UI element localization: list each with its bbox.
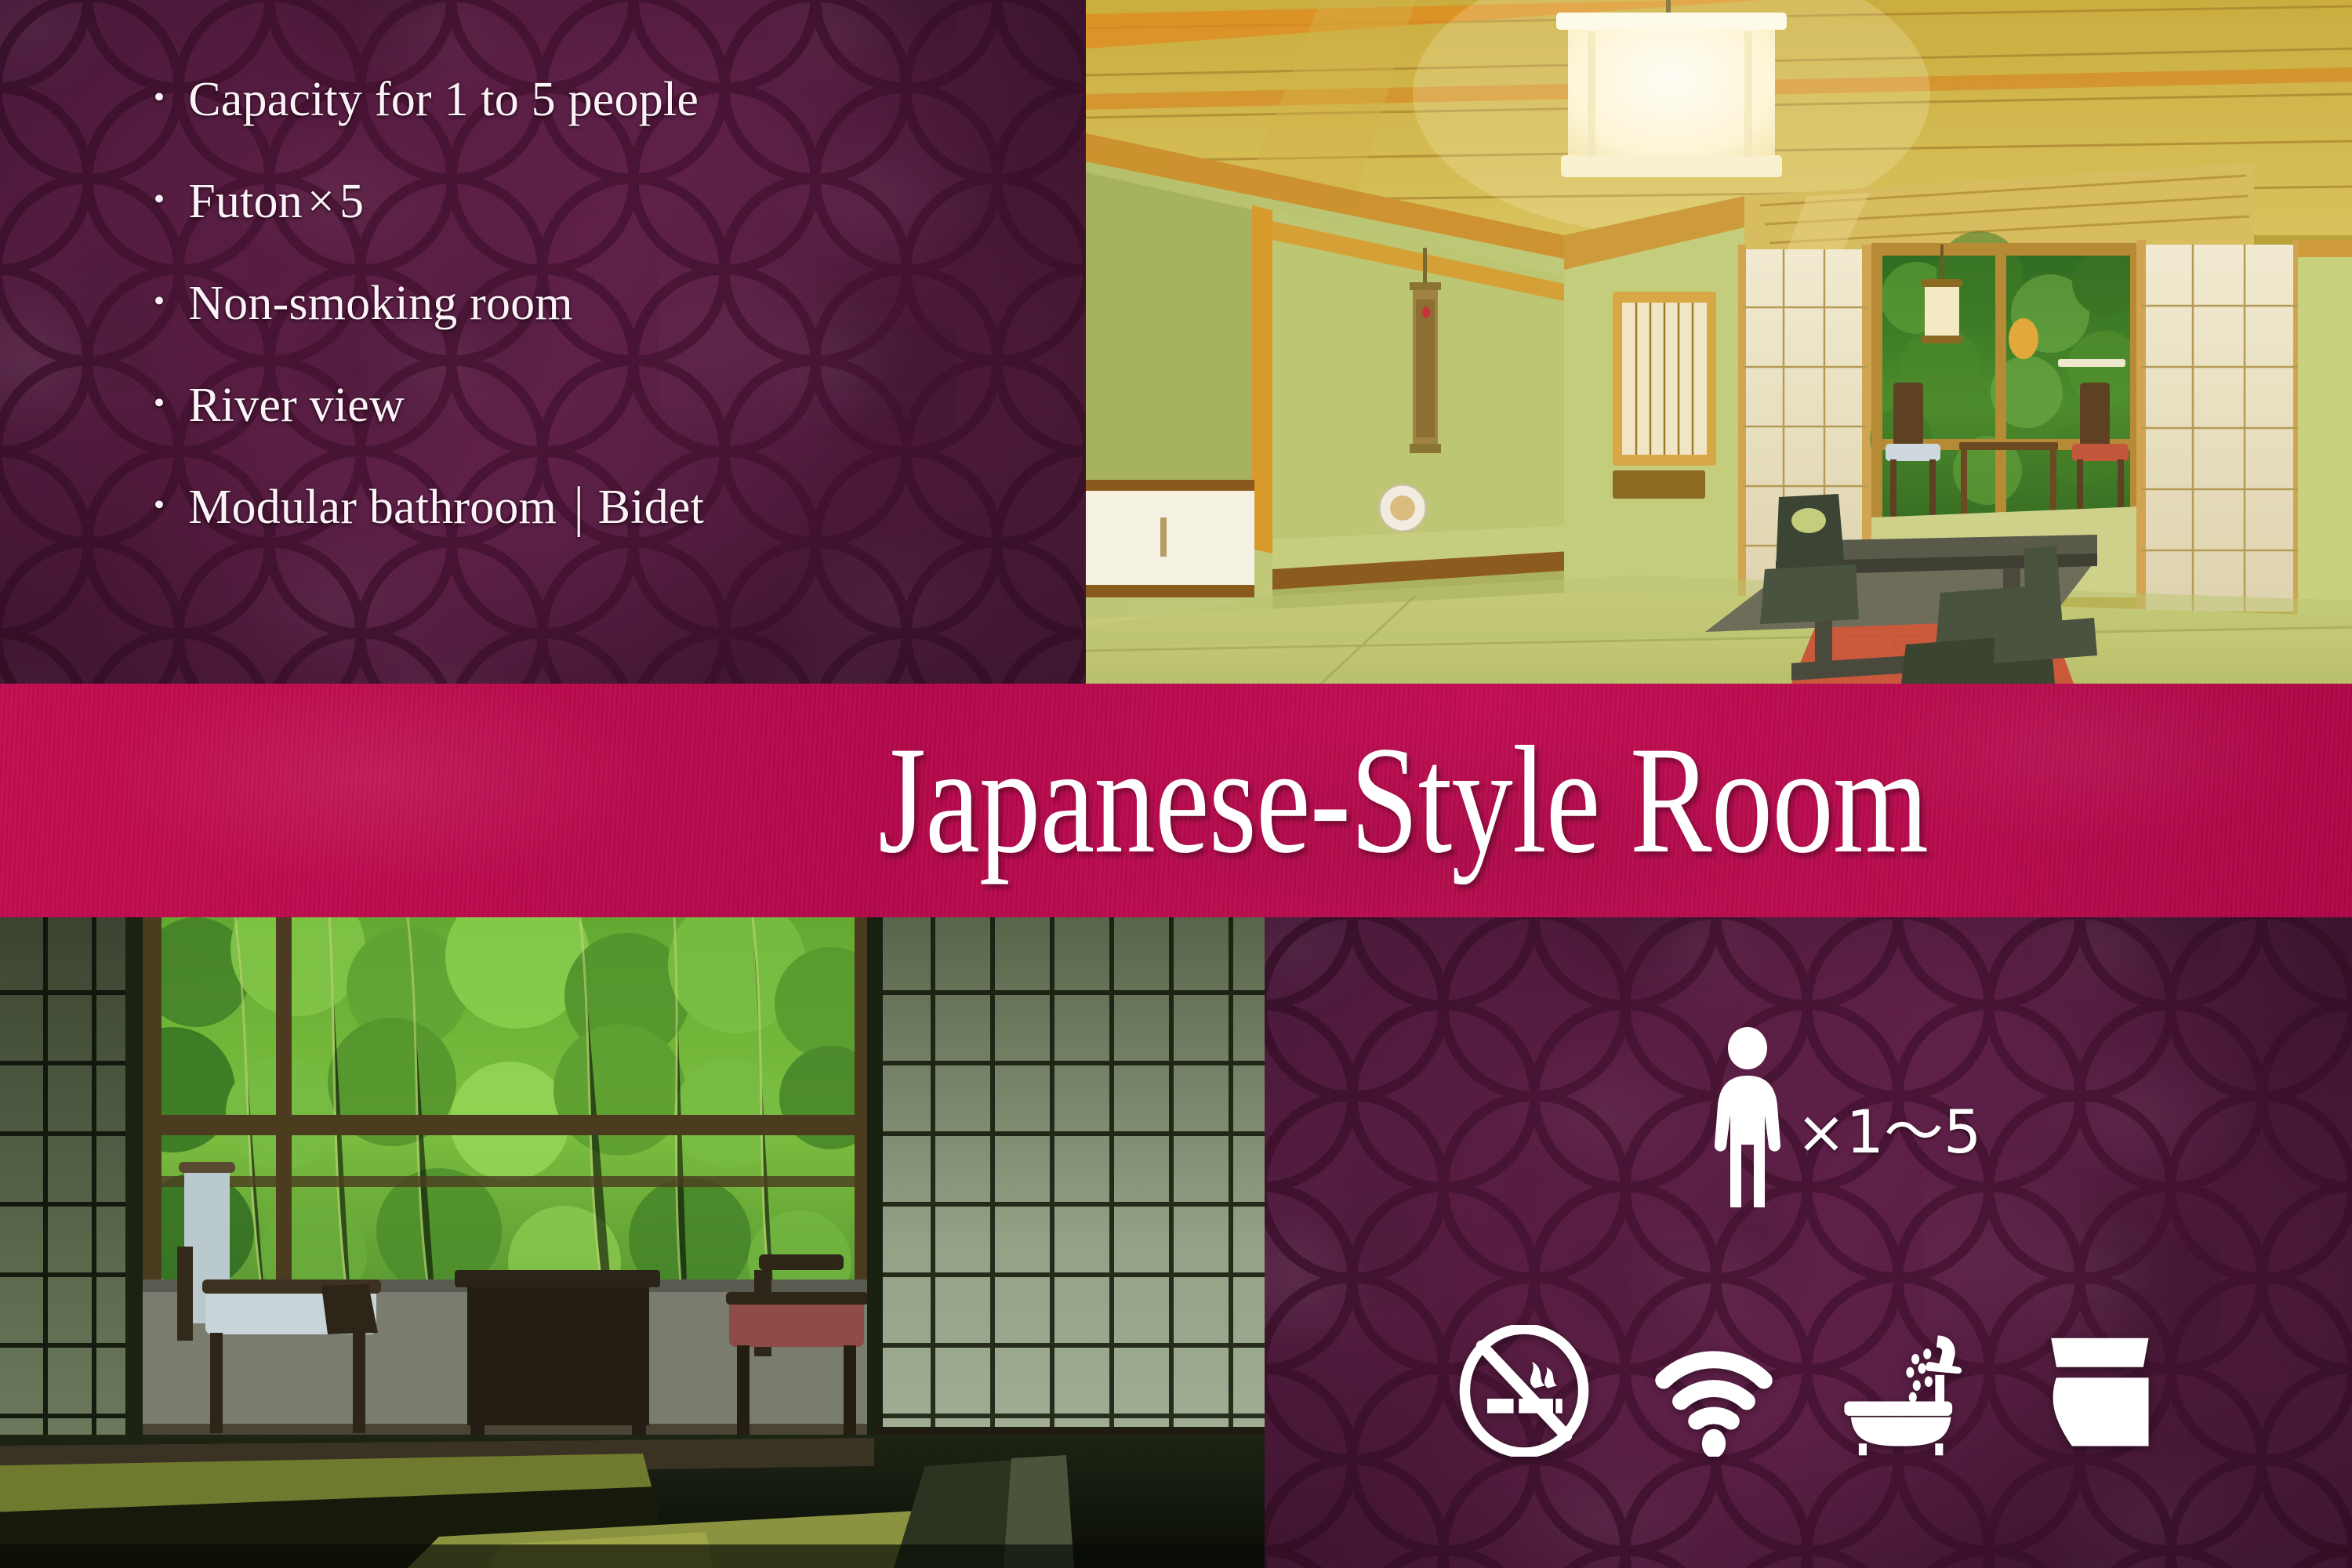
page-title: Japanese-Style Room: [878, 724, 1928, 877]
title-banner: Japanese-Style Room: [0, 684, 2352, 917]
wifi-icon: [1648, 1325, 1780, 1457]
feature-label-secondary: Bidet: [598, 481, 704, 534]
capacity-label: ×1〜5: [1796, 1102, 1981, 1162]
bullet-icon: ・: [141, 183, 177, 219]
feature-label: Capacity for 1 to 5 people: [188, 73, 699, 126]
feature-item-capacity: ・Capacity for 1 to 5 people: [141, 75, 1074, 124]
person-icon: [1711, 1027, 1784, 1207]
bullet-icon: ・: [141, 488, 177, 524]
panel-grain: [1265, 917, 2352, 1568]
amenities-panel: ×1〜5: [1265, 917, 2352, 1568]
shippou-pattern: [1265, 917, 2352, 1568]
bullet-icon: ・: [141, 285, 177, 321]
separator-icon: |: [574, 479, 584, 535]
panel-vignette: [1265, 917, 2352, 1568]
bathtub-shower-icon: [1838, 1325, 1969, 1457]
feature-item-river-view: ・River view: [141, 381, 1074, 430]
capacity-row: ×1〜5: [1711, 1027, 1981, 1207]
feature-value: 5: [339, 175, 364, 228]
multiply-icon: ×: [307, 175, 335, 228]
feature-item-non-smoking: ・Non-smoking room: [141, 279, 1074, 328]
feature-label: Non-smoking room: [188, 277, 573, 330]
bullet-icon: ・: [141, 81, 177, 117]
japanese-tatami-room-photo: [1086, 0, 2352, 684]
panel-texture: [1265, 917, 2352, 1568]
feature-item-bathroom: ・Modular bathroom|Bidet: [141, 483, 1074, 532]
feature-label: Modular bathroom: [188, 481, 557, 534]
river-view-window-photo: [0, 917, 1265, 1568]
no-smoking-icon: [1458, 1325, 1590, 1457]
features-panel: ・Capacity for 1 to 5 people ・Futon×5 ・No…: [0, 0, 1086, 684]
feature-list: ・Capacity for 1 to 5 people ・Futon×5 ・No…: [141, 75, 1074, 585]
feature-label: River view: [188, 379, 405, 432]
bullet-icon: ・: [141, 387, 177, 423]
feature-item-futon: ・Futon×5: [141, 177, 1074, 226]
room-info-card: ・Capacity for 1 to 5 people ・Futon×5 ・No…: [0, 0, 2352, 1568]
toilet-icon: [2027, 1325, 2159, 1457]
feature-label: Futon: [188, 175, 303, 228]
amenity-icon-row: [1265, 1325, 2352, 1457]
